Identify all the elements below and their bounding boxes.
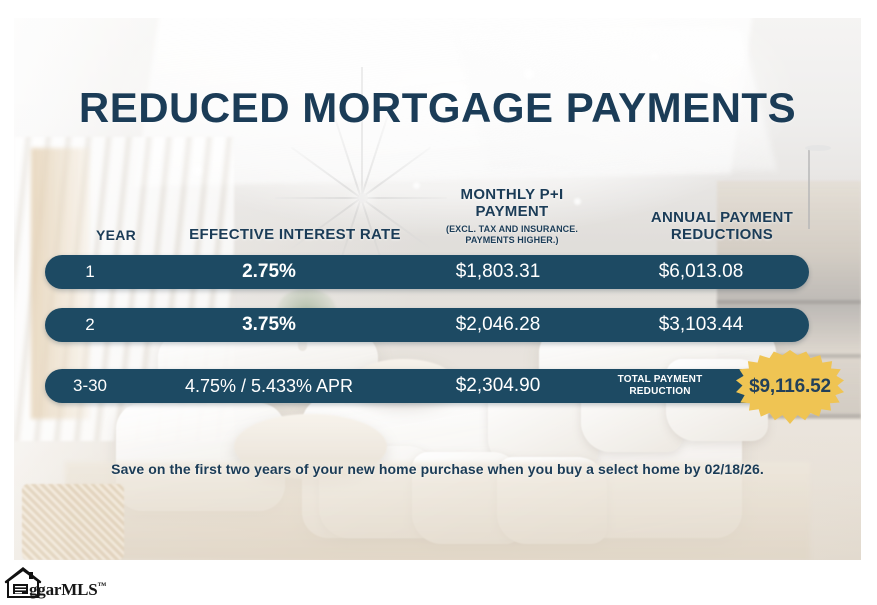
screenshot-viewport: REDUCED MORTGAGE PAYMENTS YEAR EFFECTIVE…: [0, 0, 877, 605]
monthly-payment-line2: PAYMENT: [476, 203, 549, 220]
total-payment-reduction-label: TOTAL PAYMENT REDUCTION: [595, 374, 725, 399]
annual-reductions-line1: ANNUAL PAYMENT: [651, 209, 793, 226]
monthly-payment-note-line2: PAYMENTS HIGHER.): [417, 235, 607, 246]
row-annual-reduction: $3,103.44: [593, 314, 809, 336]
row-interest-rate: 2.75%: [135, 261, 403, 283]
row-year: 2: [45, 315, 135, 335]
monthly-payment-note-line1: (EXCL. TAX AND INSURANCE.: [417, 224, 607, 235]
monthly-payment-line1: MONTHLY P+I: [461, 186, 564, 203]
table-row: 3-30 4.75% / 5.433% APR $2,304.90 TOTAL …: [45, 369, 802, 403]
row-monthly-payment: $1,803.31: [403, 261, 593, 283]
total-label-line2: REDUCTION: [629, 386, 690, 397]
table-column-headers: YEAR EFFECTIVE INTEREST RATE MONTHLY P+I…: [45, 170, 839, 250]
flyer-footer-note: Save on the first two years of your new …: [14, 461, 861, 477]
column-header-effective-interest-rate: EFFECTIVE INTEREST RATE: [161, 226, 429, 244]
column-header-monthly-payment: MONTHLY P+I PAYMENT (EXCL. TAX AND INSUR…: [417, 186, 607, 246]
annual-reductions-line2: REDUCTIONS: [671, 226, 773, 243]
row-interest-rate: 3.75%: [135, 314, 403, 336]
row-year: 3-30: [45, 376, 135, 396]
table-row: 2 3.75% $2,046.28 $3,103.44: [45, 308, 809, 342]
row-monthly-payment: $2,304.90: [403, 375, 593, 397]
row-annual-reduction: $6,013.08: [593, 261, 809, 283]
row-monthly-payment: $2,046.28: [403, 314, 593, 336]
column-header-annual-payment-reductions: ANNUAL PAYMENT REDUCTIONS: [605, 209, 839, 244]
column-header-year: YEAR: [71, 227, 161, 244]
flyer-headline: REDUCED MORTGAGE PAYMENTS: [14, 84, 861, 132]
total-savings-amount: $9,116.52: [749, 376, 831, 398]
total-savings-starburst-badge: $9,116.52: [736, 350, 844, 424]
row-year: 1: [45, 262, 135, 282]
table-row: 1 2.75% $1,803.31 $6,013.08: [45, 255, 809, 289]
total-label-line1: TOTAL PAYMENT: [618, 374, 703, 385]
row-interest-rate: 4.75% / 5.433% APR: [135, 376, 403, 397]
mortgage-flyer-image[interactable]: REDUCED MORTGAGE PAYMENTS YEAR EFFECTIVE…: [14, 18, 861, 560]
flyer-content: REDUCED MORTGAGE PAYMENTS YEAR EFFECTIVE…: [14, 18, 861, 560]
image-caption-toolbar: ortgage Payments: [0, 562, 877, 605]
